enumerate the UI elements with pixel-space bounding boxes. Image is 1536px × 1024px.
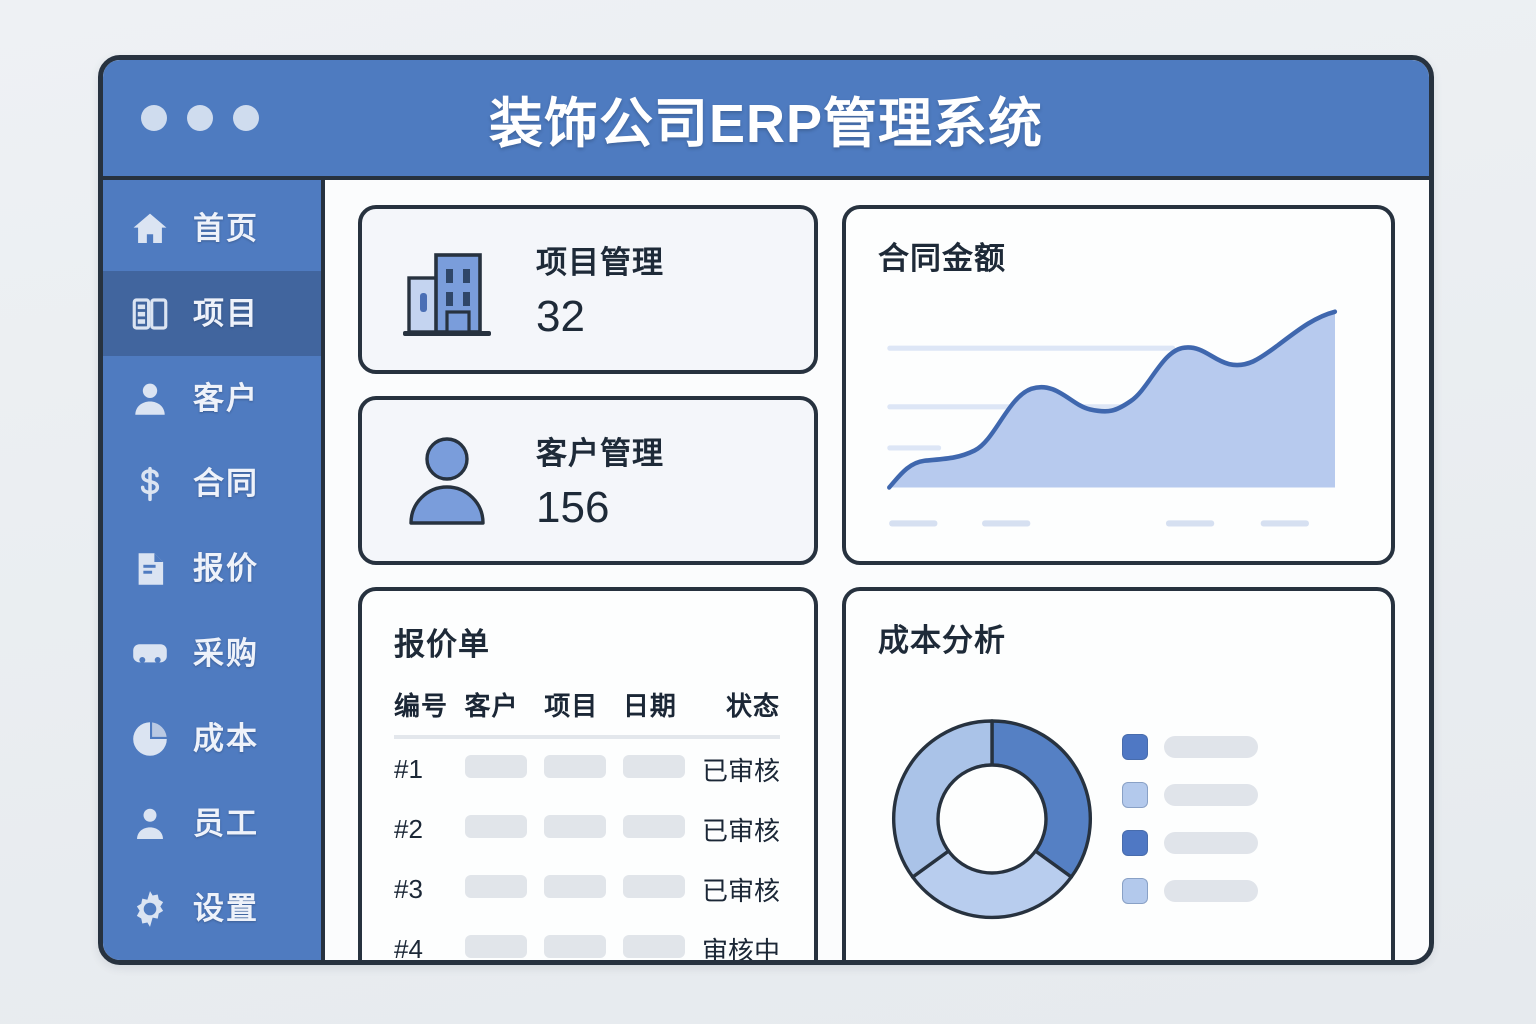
person-icon [392, 426, 502, 536]
stat-card-customer[interactable]: 客户管理 156 [358, 396, 818, 565]
employee-icon [129, 803, 171, 845]
placeholder-bar [465, 935, 527, 958]
legend-swatch-icon [1122, 782, 1148, 808]
legend-label-placeholder [1164, 832, 1258, 854]
cell-date [623, 919, 702, 965]
placeholder-bar [465, 815, 527, 838]
table-header: 编号 客户 项目 日期 状态 [394, 686, 780, 737]
user-icon [129, 378, 171, 420]
sidebar-item-contract[interactable]: 合同 [103, 441, 321, 526]
status-badge: 已审核 [702, 737, 780, 799]
truck-icon [129, 633, 171, 675]
legend-item[interactable] [1122, 878, 1365, 904]
table-header-row: 编号 客户 项目 日期 状态 [394, 686, 780, 737]
cell-id: #3 [394, 859, 465, 919]
stat-card-project[interactable]: 项目管理 32 [358, 205, 818, 374]
sidebar-item-label: 报价 [193, 553, 259, 584]
stat-cards: 项目管理 32 客户管理 156 [358, 205, 818, 565]
donut-svg [886, 713, 1098, 925]
cost-legend [1116, 734, 1365, 904]
cell-project [544, 737, 623, 799]
main-content: 项目管理 32 客户管理 156 [325, 180, 1429, 965]
sidebar-item-label: 采购 [193, 638, 259, 669]
cell-date [623, 799, 702, 859]
placeholder-bar [544, 875, 606, 898]
contract-amount-panel: 合同金额 [842, 205, 1395, 565]
gear-icon [129, 888, 171, 930]
status-badge: 已审核 [702, 859, 780, 919]
x-tick [1261, 520, 1309, 526]
app-window: 装饰公司ERP管理系统 首页 [98, 55, 1434, 965]
column-header-date: 日期 [623, 686, 702, 737]
cell-date [623, 859, 702, 919]
cell-customer [465, 919, 545, 965]
placeholder-bar [544, 755, 606, 778]
quotation-panel: 报价单 编号 客户 项目 日期 状态 [358, 587, 818, 965]
column-header-customer: 客户 [465, 686, 545, 737]
maximize-dot-icon[interactable] [233, 105, 259, 131]
sidebar-item-label: 首页 [193, 213, 259, 244]
status-badge: 已审核 [702, 799, 780, 859]
gridline [887, 346, 1175, 351]
cost-donut-chart [886, 713, 1098, 925]
sidebar-item-home[interactable]: 首页 [103, 186, 321, 271]
cell-id: #1 [394, 737, 465, 799]
cost-analysis-panel: 成本分析 [842, 587, 1395, 965]
quotation-table: 编号 客户 项目 日期 状态 #1 [394, 686, 780, 965]
donut-hole [938, 765, 1046, 873]
gridline [887, 445, 941, 450]
placeholder-bar [465, 755, 527, 778]
contract-area-chart [878, 286, 1361, 543]
legend-label-placeholder [1164, 880, 1258, 902]
home-icon [129, 208, 171, 250]
sidebar-item-employee[interactable]: 员工 [103, 781, 321, 866]
column-header-id: 编号 [394, 686, 465, 737]
sidebar-item-project[interactable]: 项目 [103, 271, 321, 356]
table-row[interactable]: #4 审核中 [394, 919, 780, 965]
legend-label-placeholder [1164, 736, 1258, 758]
sidebar-item-customer[interactable]: 客户 [103, 356, 321, 441]
stat-card-text: 客户管理 156 [536, 428, 664, 533]
cell-id: #4 [394, 919, 465, 965]
cell-project [544, 919, 623, 965]
table-row[interactable]: #2 已审核 [394, 799, 780, 859]
stat-card-label: 项目管理 [536, 237, 664, 282]
sidebar-item-quotation[interactable]: 报价 [103, 526, 321, 611]
legend-item[interactable] [1122, 830, 1365, 856]
table-row[interactable]: #3 已审核 [394, 859, 780, 919]
contract-chart-svg [878, 286, 1361, 543]
placeholder-bar [623, 935, 685, 958]
legend-swatch-icon [1122, 878, 1148, 904]
placeholder-bar [623, 755, 685, 778]
cell-customer [465, 799, 545, 859]
column-header-status: 状态 [702, 686, 780, 737]
legend-item[interactable] [1122, 782, 1365, 808]
legend-swatch-icon [1122, 734, 1148, 760]
table-row[interactable]: #1 已审核 [394, 737, 780, 799]
stat-card-text: 项目管理 32 [536, 237, 664, 342]
project-icon [129, 293, 171, 335]
status-badge: 审核中 [702, 919, 780, 965]
sidebar-item-settings[interactable]: 设置 [103, 866, 321, 951]
app-root: 装饰公司ERP管理系统 首页 [0, 0, 1536, 1024]
table-body: #1 已审核 #2 已审核 [394, 737, 780, 965]
dollar-icon [129, 463, 171, 505]
sidebar-item-label: 员工 [193, 808, 259, 839]
legend-label-placeholder [1164, 784, 1258, 806]
contract-chart-title: 合同金额 [878, 233, 1361, 278]
title-bar: 装饰公司ERP管理系统 [103, 60, 1429, 180]
placeholder-bar [623, 815, 685, 838]
minimize-dot-icon[interactable] [187, 105, 213, 131]
window-body: 首页 项目 [103, 180, 1429, 965]
sidebar-item-label: 合同 [193, 468, 259, 499]
page-title: 装饰公司ERP管理系统 [103, 79, 1429, 158]
sidebar-item-label: 客户 [193, 383, 259, 414]
sidebar-item-cost[interactable]: 成本 [103, 696, 321, 781]
stat-card-value: 32 [536, 292, 664, 342]
cell-customer [465, 859, 545, 919]
sidebar: 首页 项目 [103, 180, 325, 965]
legend-item[interactable] [1122, 734, 1365, 760]
sidebar-item-label: 项目 [193, 298, 259, 329]
window-controls [141, 105, 259, 131]
cost-chart-body [878, 664, 1365, 965]
x-tick [982, 520, 1030, 526]
cell-project [544, 859, 623, 919]
column-header-project: 项目 [544, 686, 623, 737]
sidebar-item-label: 成本 [193, 723, 259, 754]
stat-card-label: 客户管理 [536, 428, 664, 473]
quotation-title: 报价单 [394, 619, 780, 664]
x-tick [889, 520, 937, 526]
cell-project [544, 799, 623, 859]
contract-area-fill [889, 312, 1335, 488]
close-dot-icon[interactable] [141, 105, 167, 131]
sidebar-item-label: 设置 [193, 893, 259, 924]
cell-id: #2 [394, 799, 465, 859]
cell-customer [465, 737, 545, 799]
pie-icon [129, 718, 171, 760]
legend-swatch-icon [1122, 830, 1148, 856]
placeholder-bar [623, 875, 685, 898]
building-icon [392, 235, 502, 345]
sidebar-item-purchase[interactable]: 采购 [103, 611, 321, 696]
placeholder-bar [544, 815, 606, 838]
x-tick [1166, 520, 1214, 526]
document-icon [129, 548, 171, 590]
cost-chart-title: 成本分析 [878, 615, 1365, 660]
cell-date [623, 737, 702, 799]
placeholder-bar [465, 875, 527, 898]
placeholder-bar [544, 935, 606, 958]
stat-card-value: 156 [536, 483, 664, 533]
